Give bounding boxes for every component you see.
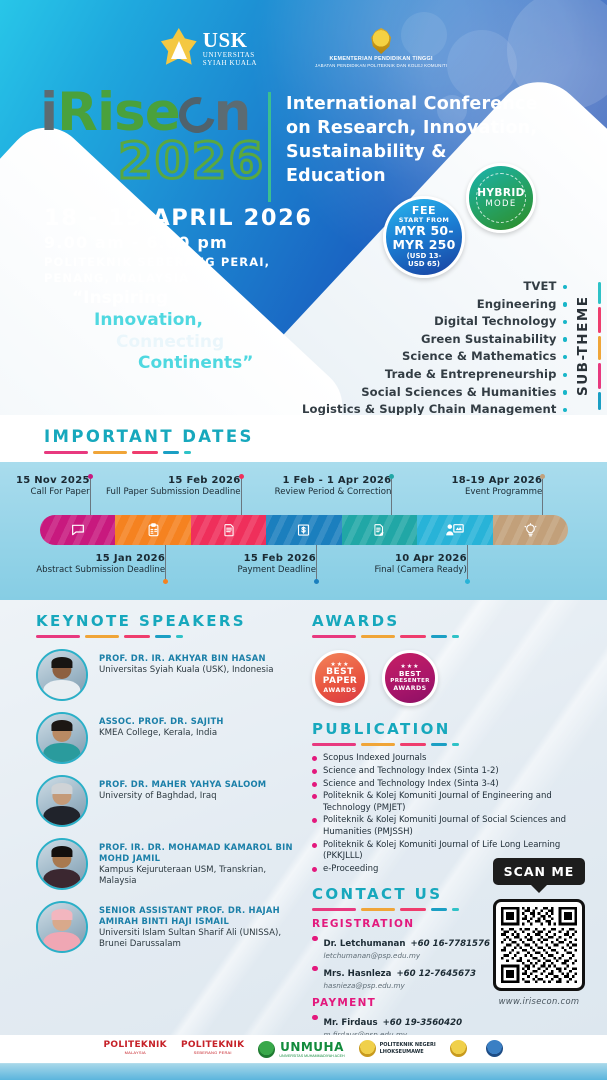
speaker-affiliation: Universiti Islam Sultan Sharif Ali (UNIS… [99, 928, 294, 951]
timeline-segment [40, 515, 115, 545]
speaker-name: PROF. DR. MAHER YAHYA SALOOM [99, 779, 266, 790]
speaker-affiliation: Kampus Kejuruteraan USM, Transkrian, Mal… [99, 865, 294, 888]
footer-logo-sub: SEBERANG PERAI [194, 1050, 232, 1055]
awards-badges: ★★★BESTPAPERAWARDS★★★BESTPRESENTERAWARDS [312, 650, 582, 706]
timeline-segment [493, 515, 568, 545]
bullet-icon [312, 843, 317, 848]
publication-item-label: e-Proceeding [323, 864, 378, 875]
speaker-row: PROF. DR. MAHER YAHYA SALOOMUniversity o… [36, 775, 294, 827]
event-title-block: iRisen 2026 [40, 88, 265, 190]
important-dates-title: IMPORTANT DATES [44, 427, 254, 446]
heading-rule [312, 635, 582, 638]
qr-code[interactable] [493, 899, 585, 991]
footer-partner-logos: POLITEKNIK MALAYSIA POLITEKNIK SEBERANG … [0, 1035, 607, 1080]
subtheme-item: Science & Mathematics [302, 348, 567, 366]
timeline-segment [115, 515, 190, 545]
fee-badge: FEE START FROM MYR 50- MYR 250 (USD 13- … [383, 196, 465, 278]
fee-usd-line2: USD 65) [408, 261, 440, 269]
publication-item: Scopus Indexed Journals [312, 753, 582, 764]
subtheme-bullet-icon [563, 337, 568, 342]
footer-logo-sub: UNIVERSITAS MUHAMMADIYAH ACEH [279, 1054, 344, 1058]
contact-name: Mr. Firdaus [324, 1018, 378, 1028]
speaker-row: SENIOR ASSISTANT PROF. DR. HAJAH AMIRAH … [36, 901, 294, 953]
logo-letter-i: i [40, 88, 57, 138]
hybrid-badge-line2: MODE [485, 199, 516, 209]
footer-logo-partner-elephant [486, 1040, 503, 1057]
lhokseumawe-crest-icon [359, 1040, 376, 1057]
subtheme-bullet-icon [563, 302, 568, 307]
subtheme-color-bars [598, 282, 601, 410]
speaker-affiliation: University of Baghdad, Iraq [99, 791, 266, 802]
timeline-segment [191, 515, 266, 545]
bullet-icon [312, 794, 317, 799]
subtheme-bullet-icon [563, 408, 568, 413]
timeline-label: 15 Jan 2026Abstract Submission Deadline [15, 553, 165, 575]
tagline-line-3: Connecting [116, 332, 253, 354]
speaker-name: ASSOC. PROF. DR. SAJITH [99, 716, 224, 727]
footer-logo-unmuha: UNMUHA UNIVERSITAS MUHAMMADIYAH ACEH [258, 1040, 344, 1058]
publication-item-label: Science and Technology Index (Sinta 3-4) [323, 779, 499, 790]
speaker-avatar [36, 775, 88, 827]
publication-item-label: Politeknik & Kolej Komuniti Journal of E… [323, 791, 582, 814]
timeline-node [540, 474, 545, 479]
event-venue-line2: PENANG, MALAYSIA [44, 271, 313, 287]
heading-rule [44, 451, 254, 454]
timeline-description: Event Programme [392, 487, 542, 497]
event-tagline: “Inspiring Innovation, Connecting Contin… [72, 288, 253, 375]
publication-item-label: Science and Technology Index (Sinta 1-2) [323, 766, 499, 777]
qr-block[interactable]: SCAN ME [485, 858, 593, 1006]
footer-logo-text [471, 1045, 473, 1051]
publication-title: PUBLICATION [312, 720, 582, 738]
publication-item-label: Politeknik & Kolej Komuniti Journal of S… [323, 815, 582, 838]
bullet-icon [312, 756, 317, 761]
organizer-logos: USK UNIVERSITAS SYIAH KUALA KEMENTERIAN … [0, 28, 607, 68]
publication-item-label: Scopus Indexed Journals [323, 753, 426, 764]
timeline-connector [467, 545, 468, 581]
footer-logo-politeknik-lhokseumawe: POLITEKNIK NEGERI LHOKSEUMAWE [359, 1040, 436, 1057]
kpt-logo: KEMENTERIAN PENDIDIKAN TINGGI JABATAN PE… [315, 28, 447, 68]
subtitle-line-1: International Conference [286, 92, 586, 116]
subtheme-item: Trade & Entrepreneurship [302, 366, 567, 384]
publication-list: Scopus Indexed JournalsScience and Techn… [312, 753, 582, 875]
timeline-date: 18-19 Apr 2026 [392, 475, 542, 486]
subtitle-line-3: Sustainability & [286, 140, 586, 164]
title-divider [268, 92, 271, 202]
timeline-date: 15 Jan 2026 [15, 553, 165, 564]
publication-item: Science and Technology Index (Sinta 3-4) [312, 779, 582, 790]
subtheme-bullet-icon [563, 373, 568, 378]
subtheme-bar [598, 282, 601, 304]
footer-logo-sub: MALAYSIA [125, 1050, 146, 1055]
bullet-icon [312, 936, 318, 942]
subtheme-bar [598, 307, 601, 333]
subtheme-bar [598, 336, 601, 360]
event-time: 9.00 am - 6.00 pm [44, 233, 313, 252]
timeline-node [163, 579, 168, 584]
lightbulb-icon [523, 522, 538, 539]
award-line2: PRESENTER [390, 679, 429, 685]
footer-logo-politeknik-seberang-perai: POLITEKNIK SEBERANG PERAI [181, 1040, 244, 1055]
contact-email[interactable]: hasnieza@psp.edu.my [324, 981, 477, 990]
timeline-date: 15 Nov 2025 [0, 475, 90, 486]
speaker-name: PROF. DR. IR. AKHYAR BIN HASAN [99, 653, 274, 664]
subtheme-label: SUB-THEME [575, 278, 591, 396]
speaker-avatar [36, 838, 88, 890]
subtheme-item: Logistics & Supply Chain Management [302, 401, 567, 415]
subtheme-item: Green Sustainability [302, 331, 567, 349]
contact-phone[interactable]: +60 19-3560420 [383, 1018, 463, 1028]
timeline-date: 15 Feb 2026 [91, 475, 241, 486]
event-datetime-venue: 18 - 19 APRIL 2026 9.00 am - 6.00 pm POL… [44, 205, 313, 286]
event-year: 2026 [118, 132, 265, 190]
conference-poster: USK UNIVERSITAS SYIAH KUALA KEMENTERIAN … [0, 0, 607, 1080]
speaker-avatar [36, 712, 88, 764]
timeline-label: 10 Apr 2026Final (Camera Ready) [317, 553, 467, 575]
footer-logo-text: UNMUHA [280, 1040, 344, 1054]
timeline-description: Final (Camera Ready) [317, 565, 467, 575]
subtheme-bullet-icon [563, 285, 568, 290]
subtheme-item: Social Sciences & Humanities [302, 384, 567, 402]
event-venue-line1: POLITEKNIK SEBERANG PERAI, [44, 255, 313, 271]
bullet-icon [312, 867, 317, 872]
subtitle-line-2: on Research, Innovation, [286, 116, 586, 140]
timeline-bar [40, 515, 568, 545]
awards-title: AWARDS [312, 612, 582, 630]
presenter-icon [445, 522, 464, 538]
document-icon [222, 522, 236, 539]
publication-item: Politeknik & Kolej Komuniti Journal of S… [312, 815, 582, 838]
speaker-name: PROF. IR. DR. MOHAMAD KAMAROL BIN MOHD J… [99, 842, 294, 864]
footer-logo-sub: LHOKSEUMAWE [380, 1049, 436, 1055]
tagline-line-2: Innovation, [94, 310, 253, 332]
subtheme-bullet-icon [563, 320, 568, 325]
award-line1: BEST [399, 670, 421, 678]
hybrid-mode-badge: HYBRID MODE [466, 163, 536, 233]
subtheme-item-label: Social Sciences & Humanities [361, 384, 556, 402]
timeline-label: 15 Feb 2026Full Paper Submission Deadlin… [91, 475, 241, 497]
heading-rule [312, 743, 582, 746]
subtheme-bar [598, 392, 601, 410]
speaker-row: ASSOC. PROF. DR. SAJITHKMEA College, Ker… [36, 712, 294, 764]
subtheme-item: Engineering [302, 296, 567, 314]
speaker-avatar [36, 649, 88, 701]
speaker-name: SENIOR ASSISTANT PROF. DR. HAJAH AMIRAH … [99, 905, 294, 927]
contact-name: Dr. Letchumanan [324, 939, 406, 949]
publication-item: Politeknik & Kolej Komuniti Journal of E… [312, 791, 582, 814]
award-line3: AWARDS [323, 688, 356, 695]
kpt-logo-line1: KEMENTERIAN PENDIDIKAN TINGGI [315, 56, 447, 62]
speaker-affiliation: KMEA College, Kerala, India [99, 728, 224, 739]
event-logo-text: iRisen [40, 88, 265, 138]
timeline-segment [266, 515, 341, 545]
usk-logo: USK UNIVERSITAS SYIAH KUALA [160, 28, 257, 68]
speakers-list: PROF. DR. IR. AKHYAR BIN HASANUniversita… [36, 649, 294, 953]
usk-star-icon [160, 28, 198, 68]
malaysia-crest-icon [368, 28, 394, 54]
award-line2: PAPER [323, 677, 357, 687]
publication-item: Science and Technology Index (Sinta 1-2) [312, 766, 582, 777]
footer-logo-text: POLITEKNIK NEGERI [380, 1042, 436, 1048]
subtheme-list: TVETEngineeringDigital TechnologyGreen S… [302, 278, 567, 415]
tagline-line-4: Continents” [138, 353, 253, 375]
event-subtitle: International Conference on Research, In… [286, 92, 586, 189]
bullet-icon [312, 769, 317, 774]
usk-logo-title: USK [203, 30, 257, 51]
bullet-icon [312, 818, 317, 823]
hero-section: USK UNIVERSITAS SYIAH KUALA KEMENTERIAN … [0, 0, 607, 415]
footer-logo-partner-crest [450, 1040, 473, 1057]
tagline-line-1: “Inspiring [72, 288, 253, 310]
timeline-description: Call For Paper [0, 487, 90, 497]
timeline-connector [542, 477, 543, 515]
bullet-icon [312, 966, 318, 972]
clipboard-icon [146, 522, 161, 538]
timeline-date: 1 Feb - 1 Apr 2026 [241, 475, 391, 486]
speaker-row: PROF. DR. IR. AKHYAR BIN HASANUniversita… [36, 649, 294, 701]
important-dates-heading: IMPORTANT DATES [44, 427, 254, 454]
footer-logo-politeknik-malaysia: POLITEKNIK MALAYSIA [104, 1040, 167, 1055]
speaker-affiliation: Universitas Syiah Kuala (USK), Indonesia [99, 665, 274, 676]
contact-name: Mrs. Hasnleza [324, 969, 392, 979]
timeline-description: Payment Deadline [166, 565, 316, 575]
subtheme-item-label: Digital Technology [434, 313, 556, 331]
award-badge: ★★★BESTPRESENTERAWARDS [382, 650, 438, 706]
usk-logo-line2: UNIVERSITAS [203, 52, 257, 59]
speakers-title: KEYNOTE SPEAKERS [36, 612, 294, 630]
scan-me-label: SCAN ME [493, 858, 585, 885]
footer-logo-text: POLITEKNIK [104, 1040, 167, 1050]
speaker-row: PROF. IR. DR. MOHAMAD KAMAROL BIN MOHD J… [36, 838, 294, 890]
timeline-node [465, 579, 470, 584]
bullet-icon [312, 1015, 318, 1021]
logo-letter-rise: Rise [57, 88, 179, 138]
event-date: 18 - 19 APRIL 2026 [44, 205, 313, 231]
timeline-description: Abstract Submission Deadline [15, 565, 165, 575]
fee-amount-line1: MYR 50- [394, 225, 453, 238]
dollar-icon [296, 522, 311, 538]
speaker-avatar [36, 901, 88, 953]
timeline-date: 10 Apr 2026 [317, 553, 467, 564]
bottom-section: KEYNOTE SPEAKERS PROF. DR. IR. AKHYAR BI… [0, 600, 607, 1035]
subtheme-item-label: Logistics & Supply Chain Management [302, 401, 556, 415]
timeline-description: Review Period & Correction [241, 487, 391, 497]
timeline-segment [417, 515, 492, 545]
subtitle-line-4: Education [286, 164, 586, 188]
review-icon [372, 522, 386, 539]
speakers-column: KEYNOTE SPEAKERS PROF. DR. IR. AKHYAR BI… [36, 612, 294, 953]
timeline-node [314, 579, 319, 584]
contact-phone[interactable]: +60 12-7645673 [396, 969, 476, 979]
subtheme-bar [598, 363, 601, 389]
elephant-crest-icon [486, 1040, 503, 1057]
timeline-label: 15 Nov 2025Call For Paper [0, 475, 90, 497]
subtheme-item-label: Green Sustainability [421, 331, 557, 349]
website-url[interactable]: www.irisecon.com [485, 996, 593, 1006]
contact-phone[interactable]: +60 16-7781576 [410, 939, 490, 949]
fee-title: FEE [412, 205, 436, 216]
subtheme-bullet-icon [563, 355, 568, 360]
award-badge: ★★★BESTPAPERAWARDS [312, 650, 368, 706]
timeline-description: Full Paper Submission Deadline [91, 487, 241, 497]
timeline-label: 15 Feb 2026Payment Deadline [166, 553, 316, 575]
subtheme-item-label: Engineering [477, 296, 557, 314]
subtheme-item-label: Trade & Entrepreneurship [385, 366, 557, 384]
qr-code-image [501, 907, 577, 983]
subtheme-item: Digital Technology [302, 313, 567, 331]
contact-email[interactable]: letchumanan@psp.edu.my [324, 951, 490, 960]
timeline-label: 1 Feb - 1 Apr 2026Review Period & Correc… [241, 475, 391, 497]
award-line3: AWARDS [393, 686, 426, 693]
fee-amount-line2: MYR 250 [393, 239, 456, 252]
subtheme-item-label: TVET [523, 278, 556, 296]
heading-rule [36, 635, 294, 638]
speech-bubble-icon [70, 522, 86, 538]
subtheme-item: TVET [302, 278, 567, 296]
subtheme-item-label: Science & Mathematics [402, 348, 557, 366]
unmuha-crest-icon [258, 1041, 275, 1058]
logo-letter-n: n [214, 88, 251, 138]
bullet-icon [312, 782, 317, 787]
subtheme-bullet-icon [563, 390, 568, 395]
timeline-segment [342, 515, 417, 545]
hybrid-badge-line1: HYBRID [477, 187, 525, 199]
footer-logo-text: POLITEKNIK [181, 1040, 244, 1050]
timeline-label: 18-19 Apr 2026Event Programme [392, 475, 542, 497]
usk-logo-line3: SYIAH KUALA [203, 60, 257, 67]
partner-crest-icon [450, 1040, 467, 1057]
timeline-date: 15 Feb 2026 [166, 553, 316, 564]
kpt-logo-line2: JABATAN PENDIDIKAN POLITEKNIK DAN KOLEJ … [315, 63, 447, 68]
important-dates-section: IMPORTANT DATES 15 Nov 2025Call For Pape… [0, 415, 607, 600]
